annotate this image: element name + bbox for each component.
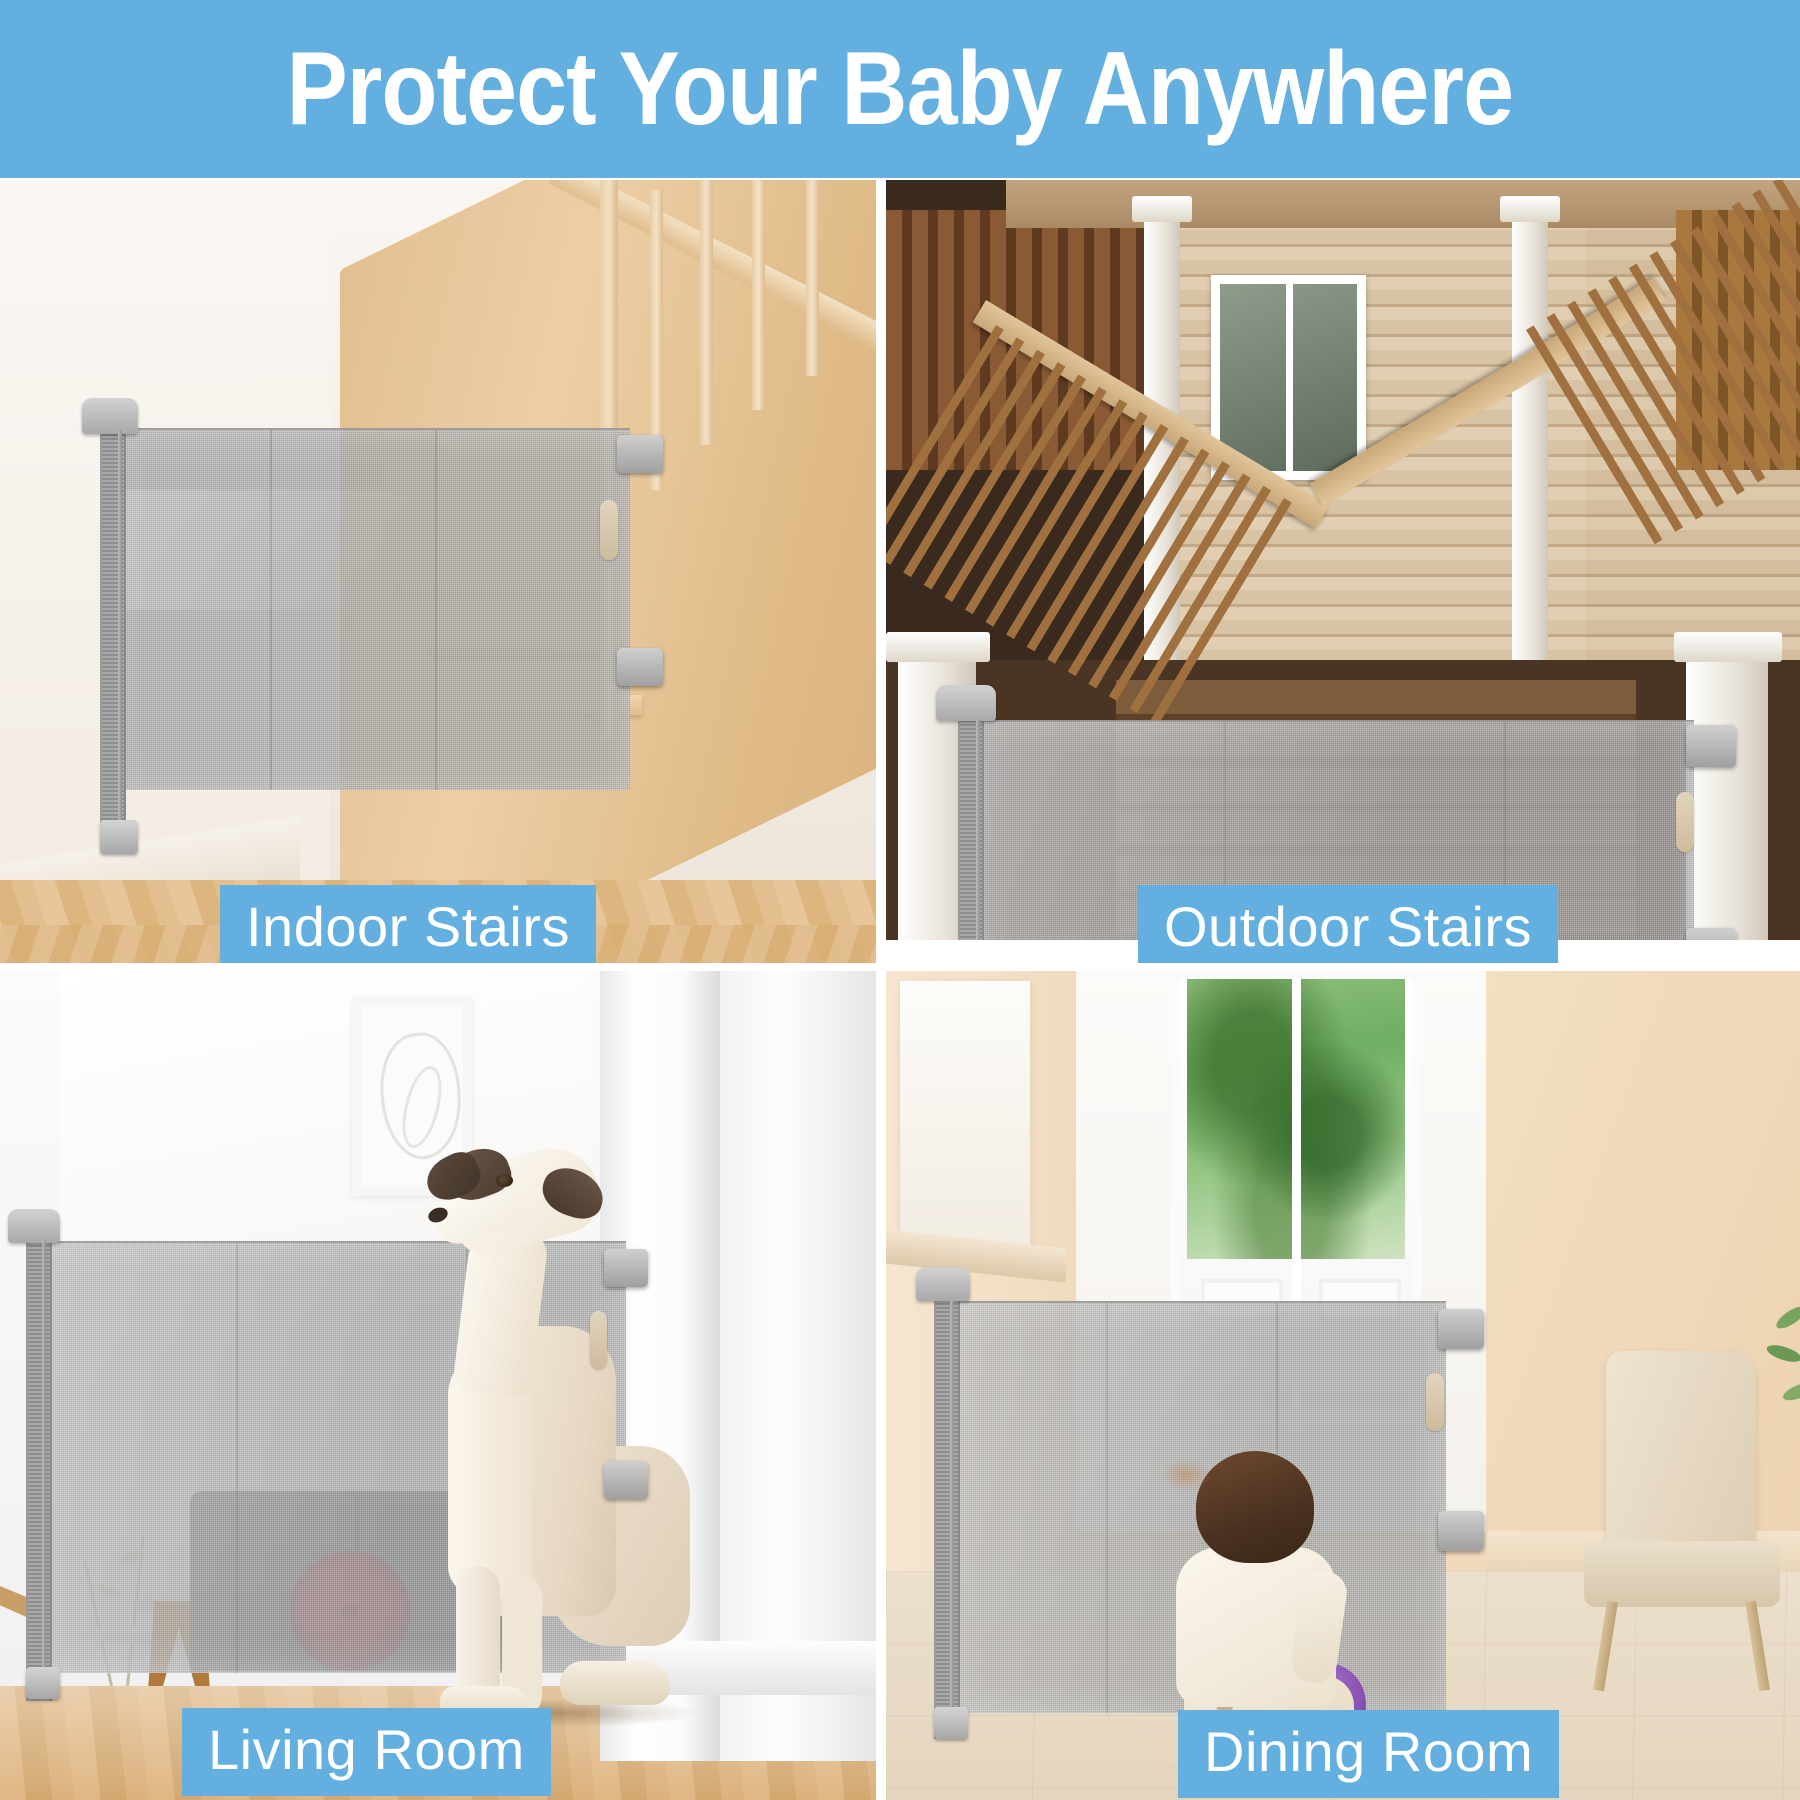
divider-vertical bbox=[876, 178, 886, 1800]
gate-top-cap bbox=[936, 685, 996, 721]
dog-back-paw bbox=[560, 1661, 670, 1705]
baluster bbox=[806, 180, 819, 376]
gate-tension-cord bbox=[950, 1301, 954, 1729]
side-window bbox=[900, 981, 1030, 1251]
gate-bottom-bracket[interactable] bbox=[100, 820, 138, 854]
plant bbox=[1766, 1301, 1800, 1471]
gate-latch-bottom[interactable] bbox=[617, 648, 663, 686]
panel-label-outdoor-stairs: Outdoor Stairs bbox=[1138, 885, 1558, 963]
gate-retractor-post[interactable] bbox=[26, 1239, 52, 1701]
scene-dining-room bbox=[886, 971, 1800, 1800]
baluster bbox=[700, 180, 713, 445]
gate-retractor-post[interactable] bbox=[958, 718, 984, 963]
panel-label-indoor-stairs: Indoor Stairs bbox=[220, 885, 596, 963]
chair-back bbox=[1606, 1351, 1756, 1556]
panel-living-room: Living Room bbox=[0, 971, 876, 1800]
gate-bottom-bracket[interactable] bbox=[934, 1707, 968, 1739]
chair-leg bbox=[1593, 1601, 1618, 1692]
gate-handle[interactable] bbox=[600, 500, 618, 560]
gate-top-cap bbox=[82, 398, 138, 434]
scene-indoor-stairs bbox=[0, 180, 876, 963]
gate-handle[interactable] bbox=[590, 1311, 607, 1369]
chair-leg bbox=[1745, 1601, 1770, 1692]
dog bbox=[410, 1146, 700, 1706]
gate-latch-bottom[interactable] bbox=[604, 1461, 648, 1499]
gate-latch-top[interactable] bbox=[617, 435, 663, 473]
gate-latch-top[interactable] bbox=[1686, 725, 1736, 767]
newel-post-right bbox=[1686, 650, 1768, 950]
gate-latch-bottom[interactable] bbox=[1438, 1511, 1484, 1551]
gate-top-cap bbox=[916, 1267, 970, 1301]
gate-retractor-post[interactable] bbox=[100, 428, 126, 846]
gate-tension-cord bbox=[118, 430, 122, 832]
panel-label-dining-room: Dining Room bbox=[1178, 1710, 1559, 1798]
gate-tension-cord bbox=[976, 720, 980, 963]
divider-horizontal bbox=[0, 963, 1800, 971]
window-mullion bbox=[1286, 284, 1293, 471]
baby-head bbox=[1196, 1451, 1314, 1563]
panel-label-living-room: Living Room bbox=[182, 1708, 551, 1796]
gate-handle[interactable] bbox=[1676, 792, 1694, 852]
newel-cap-right bbox=[1674, 632, 1782, 662]
page-title: Protect Your Baby Anywhere bbox=[287, 37, 1514, 141]
gate-retractor-post[interactable] bbox=[934, 1299, 960, 1739]
gate-latch-top[interactable] bbox=[1438, 1309, 1484, 1349]
chair-seat bbox=[1584, 1541, 1780, 1607]
gate-latch-top[interactable] bbox=[604, 1249, 648, 1287]
panel-dining-room: Dining Room bbox=[886, 971, 1800, 1800]
header-banner: Protect Your Baby Anywhere bbox=[0, 0, 1800, 178]
product-feature-collage: Protect Your Baby Anywhere bbox=[0, 0, 1800, 1800]
panel-indoor-stairs: Indoor Stairs bbox=[0, 180, 876, 963]
porch-column-cap-left bbox=[1132, 196, 1192, 222]
baby-hair-highlight bbox=[1160, 1459, 1212, 1491]
gate-mesh-panel[interactable] bbox=[110, 428, 630, 790]
accent-chair bbox=[1576, 1351, 1786, 1681]
dog-eye bbox=[496, 1174, 513, 1187]
gate-bottom-bracket[interactable] bbox=[26, 1667, 60, 1699]
panel-outdoor-stairs: Outdoor Stairs bbox=[886, 180, 1800, 963]
scene-outdoor-stairs bbox=[886, 180, 1800, 963]
scene-living-room bbox=[0, 971, 876, 1800]
gate-handle[interactable] bbox=[1426, 1373, 1444, 1431]
baluster bbox=[752, 180, 765, 410]
porch-column-cap-right bbox=[1500, 196, 1560, 222]
porch-column-right bbox=[1512, 210, 1548, 680]
newel-cap-left bbox=[886, 632, 990, 662]
gate-tension-cord bbox=[42, 1241, 46, 1693]
gate-top-cap bbox=[8, 1209, 60, 1243]
